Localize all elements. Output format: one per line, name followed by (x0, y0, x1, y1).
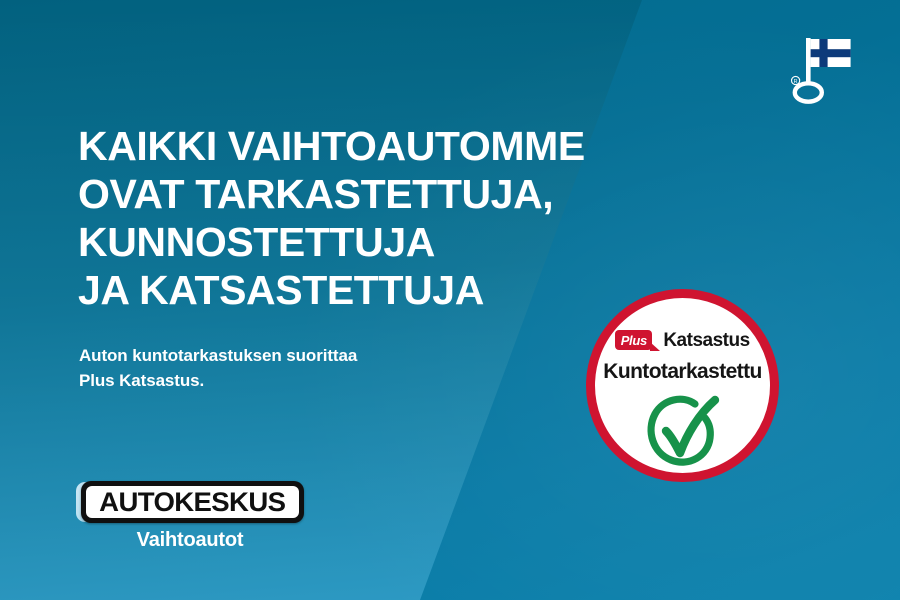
plus-tag-icon: Plus (615, 330, 652, 350)
headline-line-3: KUNNOSTETTUJA (78, 218, 678, 266)
kuntotarkastettu-badge: Plus Katsastus Kuntotarkastettu (586, 289, 779, 482)
logo-plate-frame: AUTOKESKUS (81, 481, 304, 523)
logo-plate-inner: AUTOKESKUS (86, 486, 299, 518)
logo-wordmark: AUTOKESKUS (99, 489, 285, 516)
headline-line-1: KAIKKI VAIHTOAUTOMME (78, 122, 678, 170)
headline-line-4: JA KATSASTETTUJA (78, 266, 678, 314)
headline: KAIKKI VAIHTOAUTOMME OVAT TARKASTETTUJA,… (78, 122, 678, 314)
green-check-circle-icon (637, 390, 729, 470)
subtitle: Auton kuntotarkastuksen suorittaa Plus K… (79, 343, 499, 393)
banner-canvas: R KAIKKI VAIHTOAUTOMME OVAT TARKASTETTUJ… (0, 0, 900, 600)
avainlippu-key-flag-icon: R (786, 26, 858, 106)
plus-label: Plus (621, 334, 647, 347)
headline-line-2: OVAT TARKASTETTUJA, (78, 170, 678, 218)
badge-status-label: Kuntotarkastettu (595, 360, 770, 384)
subtitle-line-2: Plus Katsastus. (79, 368, 499, 393)
autokeskus-logo[interactable]: AUTOKESKUS (76, 481, 304, 523)
logo-tagline: Vaihtoautot (76, 529, 304, 552)
katsastus-label: Katsastus (663, 331, 749, 350)
subtitle-line-1: Auton kuntotarkastuksen suorittaa (79, 343, 499, 368)
svg-text:R: R (794, 79, 798, 85)
plus-katsastus-logo: Plus Katsastus (595, 330, 770, 350)
